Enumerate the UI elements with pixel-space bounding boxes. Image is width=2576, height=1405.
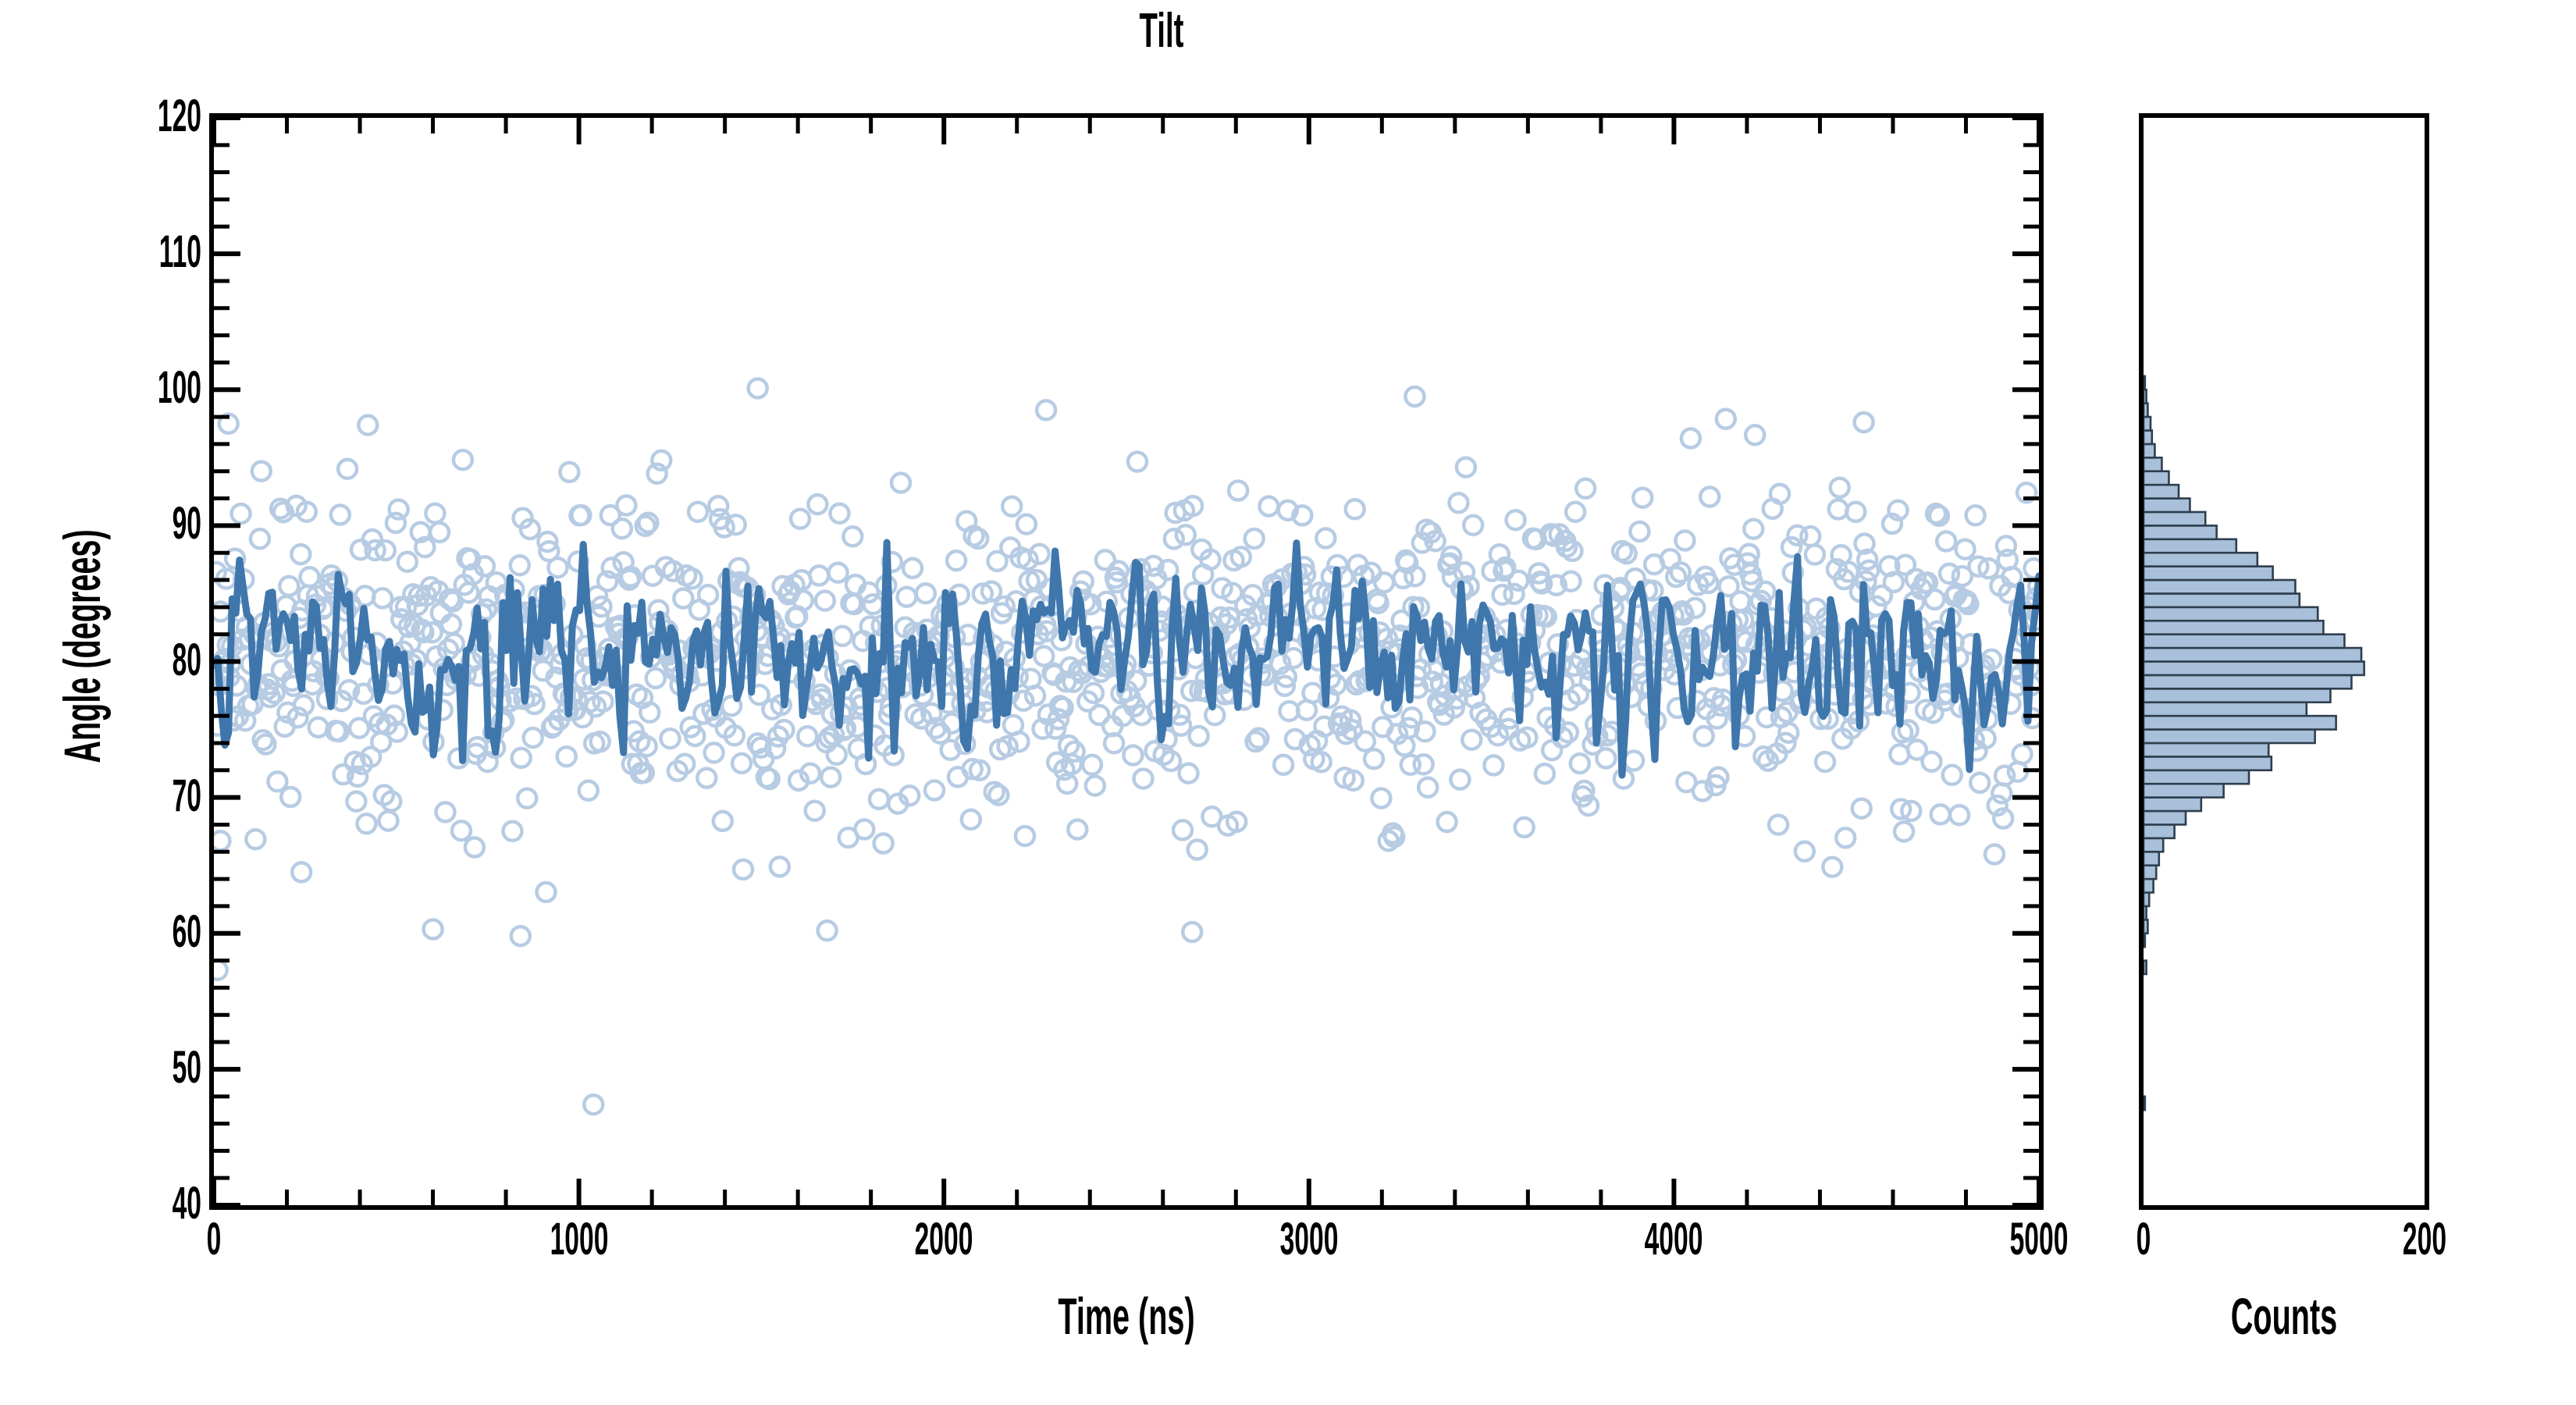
histogram-bar [2144,376,2145,389]
histogram-x-axis-title: Counts [2190,1286,2378,1346]
histogram-bar [2144,784,2224,797]
histogram-bar [2144,417,2151,430]
scatter-marker-path [214,379,2039,1115]
histogram-bars [2144,376,2364,1110]
y-tick-label: 100 [20,361,201,414]
histogram-bar [2144,675,2351,688]
histogram-bar [2144,430,2152,443]
histogram-x-tick-label: 0 [2053,1213,2234,1265]
histogram-bar [2144,525,2217,539]
histogram-bar [2144,607,2318,621]
y-tick-label: 120 [20,90,201,142]
x-tick-label: 2000 [853,1213,1034,1265]
histogram-bar [2144,811,2186,824]
scatter-points [214,379,2039,1115]
histogram-bar [2144,852,2159,865]
y-tick-label: 80 [20,634,201,686]
histogram-bar [2144,838,2163,852]
histogram-bar [2144,648,2361,661]
histogram-bar [2144,961,2147,974]
histogram-bar [2144,934,2145,947]
histogram-bar [2144,662,2364,675]
histogram-bar [2144,580,2295,593]
x-tick-label: 0 [123,1213,304,1265]
y-tick-label: 110 [20,226,201,278]
histogram-bar [2144,893,2149,906]
histogram-bar [2144,621,2323,634]
histogram-bar [2144,906,2147,919]
scatter-plot-svg [214,118,2039,1205]
histogram-bar [2144,688,2330,702]
histogram-bar [2144,1097,2145,1110]
histogram-bar [2144,499,2190,512]
figure-canvas: Tilt Angle (degrees) Time (ns) Counts 40… [0,0,2576,1405]
histogram-bar [2144,730,2315,743]
histogram-bar [2144,716,2336,729]
histogram-bar [2144,457,2161,471]
histogram-bar [2144,866,2156,879]
histogram-bar [2144,404,2147,417]
histogram-bar [2144,512,2205,525]
histogram-panel [2139,113,2429,1210]
histogram-bar [2144,770,2249,784]
y-tick-label: 70 [20,770,201,822]
histogram-bar [2144,553,2258,566]
main-scatter-panel [209,113,2044,1210]
histogram-bar [2144,444,2154,457]
histogram-bar [2144,919,2147,933]
page-title: Tilt [1055,3,1268,59]
histogram-bar [2144,635,2344,648]
histogram-bar [2144,567,2273,580]
histogram-bar [2144,702,2307,716]
x-tick-label: 3000 [1219,1213,1400,1265]
x-tick-label: 4000 [1583,1213,1764,1265]
y-tick-label: 90 [20,497,201,550]
histogram-bar [2144,743,2268,756]
x-tick-label: 1000 [489,1213,670,1265]
y-tick-label: 50 [20,1041,201,1094]
histogram-x-tick-label: 200 [2334,1213,2515,1265]
histogram-bar [2144,539,2236,553]
histogram-bar [2144,471,2169,485]
histogram-bar [2144,798,2201,811]
y-tick-label: 60 [20,905,201,958]
histogram-bar [2144,824,2175,838]
histogram-bar [2144,389,2147,403]
x-axis-title: Time (ns) [1033,1286,1220,1346]
histogram-bar [2144,485,2179,498]
histogram-bar [2144,756,2272,770]
histogram-svg [2144,118,2425,1205]
histogram-bar [2144,593,2300,606]
histogram-bar [2144,879,2154,892]
